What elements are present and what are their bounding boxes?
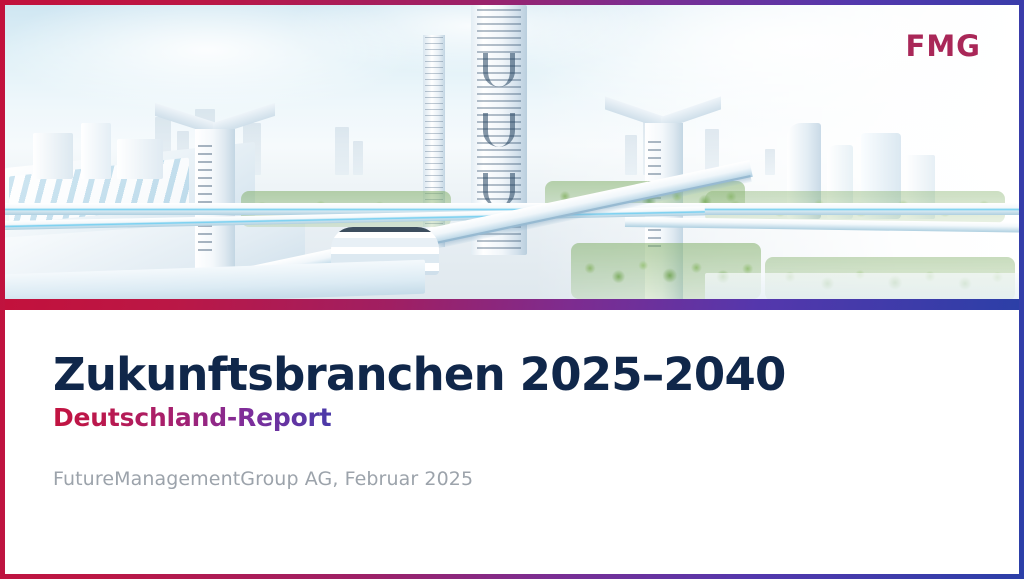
content-area: Zukunftsbranchen 2025–2040 Deutschland-R… [5,310,1019,574]
hero-image: FMG [5,5,1019,299]
building [81,123,111,179]
gradient-divider [5,299,1019,310]
foreground-platform-right [705,273,1019,299]
page-subtitle: Deutschland-Report [53,403,331,432]
building [33,133,73,179]
slide-frame: FMG Zukunftsbranchen 2025–2040 Deutschla… [0,0,1024,579]
page-title: Zukunftsbranchen 2025–2040 [53,348,785,401]
slide-inner: FMG Zukunftsbranchen 2025–2040 Deutschla… [5,5,1019,574]
page-byline: FutureManagementGroup AG, Februar 2025 [53,468,473,490]
fmg-logo: FMG [906,29,981,63]
